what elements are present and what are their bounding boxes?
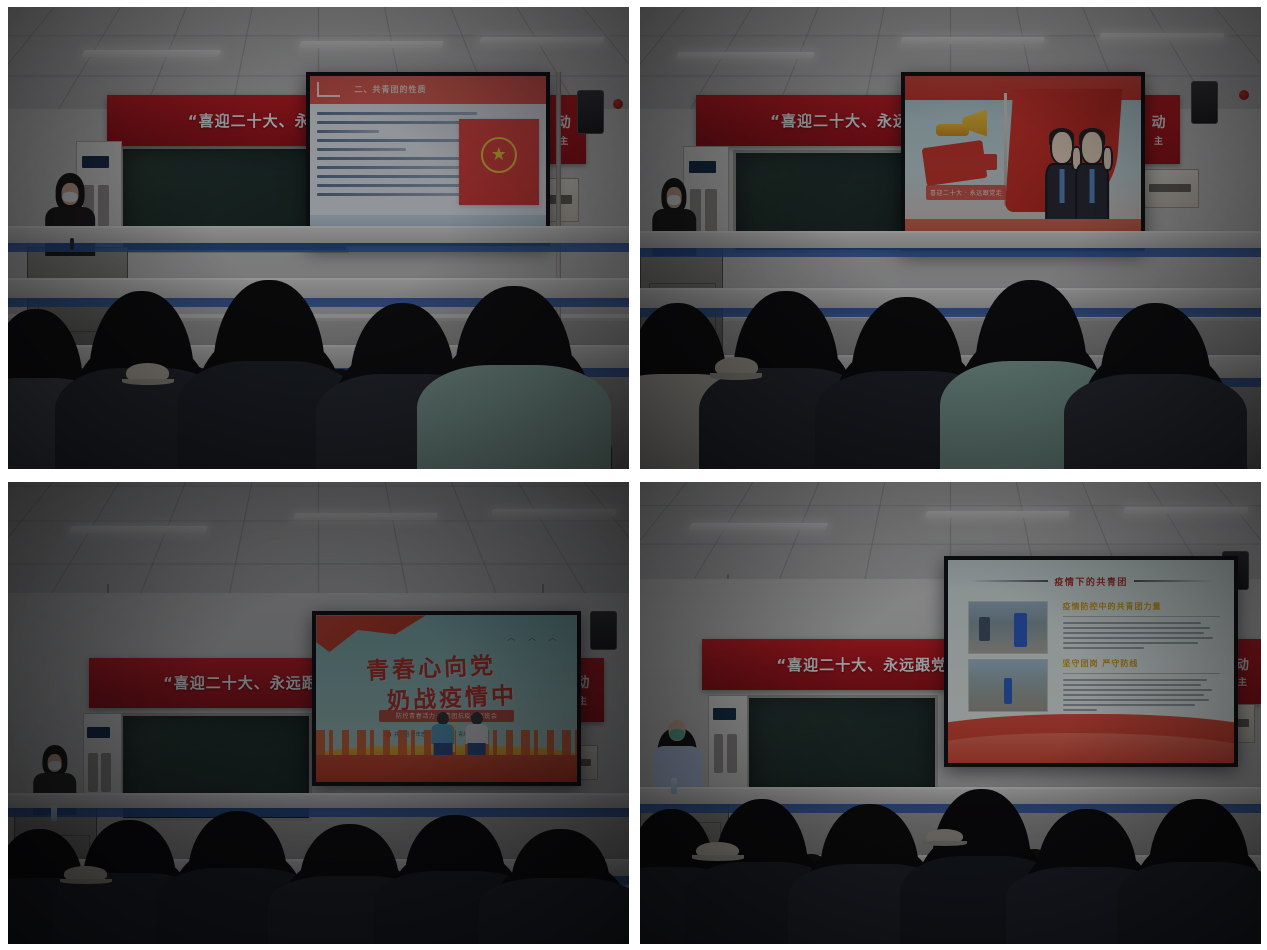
- title-rule-right: [1134, 580, 1214, 582]
- baseball-cap: [926, 829, 963, 844]
- classroom-photo-bottom-left: “喜迎二十大、永远跟党走 动 主 ︿ ︿ ︿ 青春心向党: [8, 482, 629, 944]
- audience: [8, 722, 629, 944]
- photo-collage: “喜迎二十大、永远跟党走 动 主: [0, 0, 1267, 950]
- slide-emblem-label: [926, 154, 997, 169]
- audience: [640, 695, 1261, 944]
- title-rule-left: [968, 580, 1048, 582]
- ceiling-light: [299, 41, 444, 48]
- classroom-photo-top-left: “喜迎二十大、永远跟党走 动 主: [8, 7, 629, 469]
- audience: [640, 183, 1261, 469]
- slide-header: 二、共青团的性质: [310, 76, 546, 104]
- ceiling-light: [81, 50, 220, 57]
- ceiling-light: [900, 37, 1045, 44]
- banner-tail-text: 动: [1152, 112, 1166, 132]
- header-corner-icon: [317, 82, 340, 97]
- baseball-cap: [126, 363, 169, 383]
- slide-title: 疫情下的共青团: [1054, 575, 1128, 588]
- birds-icon: ︿ ︿ ︿: [488, 632, 561, 652]
- slide-heading-1: 疫情防控中的共青团力量: [1063, 601, 1220, 612]
- banner-text: “喜迎二十大、永远跟党走: [776, 654, 963, 675]
- baseball-cap: [715, 357, 758, 377]
- banner-tail-subtext: 主: [1238, 675, 1247, 688]
- baseball-cap: [696, 842, 739, 859]
- slide-header-title: 二、共青团的性质: [355, 84, 427, 95]
- baseball-cap: [64, 866, 107, 882]
- wall-speaker-icon: [577, 90, 604, 134]
- slide-heading-2: 坚守团岗 严守防线: [1063, 658, 1220, 669]
- slide-title-row: 疫情下的共青团: [948, 572, 1234, 590]
- ceiling-light: [925, 511, 1070, 518]
- audience: [8, 183, 629, 469]
- ceiling-light: [479, 37, 604, 44]
- wall-speaker-icon: [590, 611, 617, 650]
- ceiling: [8, 482, 629, 593]
- ceiling-light: [69, 526, 208, 533]
- control-panel-display: [82, 156, 109, 168]
- classroom-photo-top-right: “喜迎二十大、永远跟党走 动 主: [640, 7, 1261, 469]
- fire-alarm-icon: [1239, 90, 1249, 100]
- ceiling-light: [688, 523, 827, 530]
- wall-speaker-icon: [1191, 81, 1218, 125]
- ceiling-light: [1124, 507, 1249, 514]
- classroom-photo-bottom-right: “喜迎二十大、永远跟党走 动 主 疫情下的共青团: [640, 482, 1261, 944]
- ceiling-light: [676, 52, 815, 59]
- ceiling-light: [492, 509, 617, 516]
- slide-photo: [968, 601, 1048, 655]
- ceiling-light: [293, 513, 438, 520]
- slide-red-corner: [316, 615, 426, 652]
- ceiling-light: [1099, 33, 1224, 40]
- control-panel-display: [689, 161, 716, 173]
- banner-tail-subtext: 主: [1154, 134, 1163, 147]
- slide-paragraph-1: [1063, 622, 1220, 649]
